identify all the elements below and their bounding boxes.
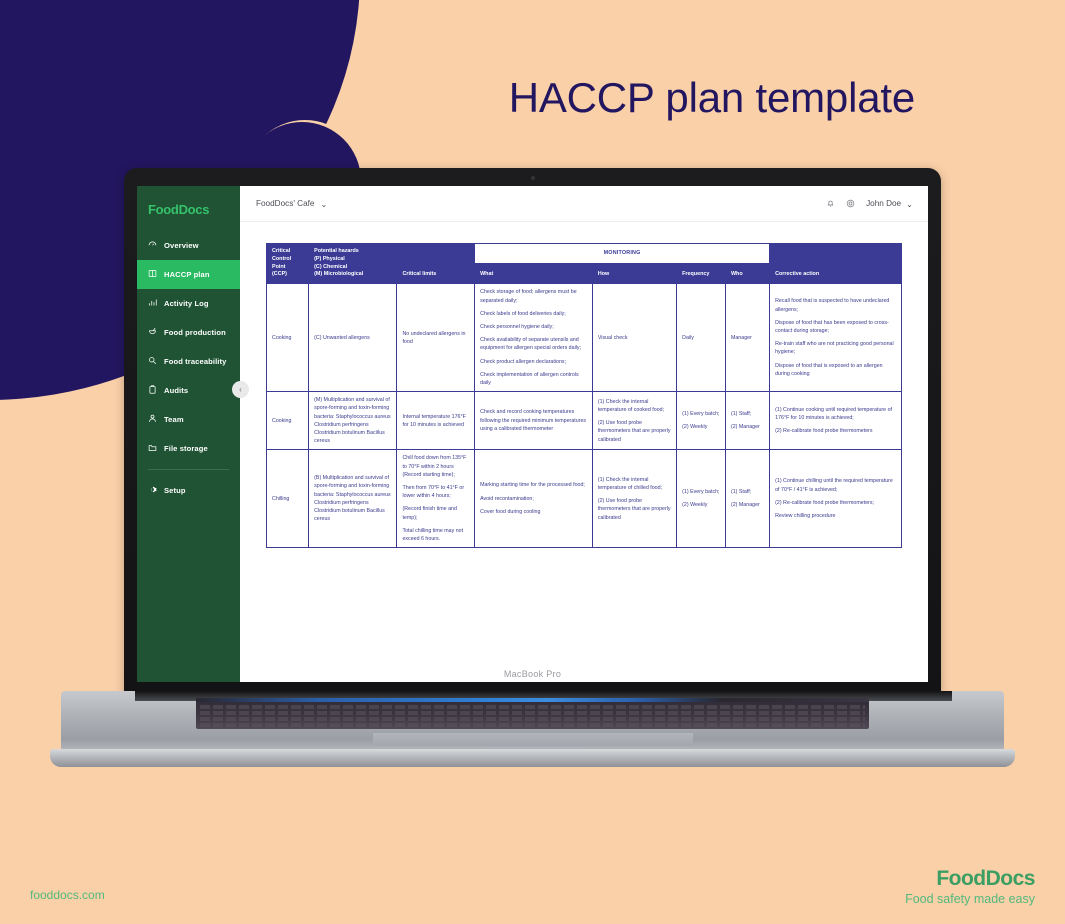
cell-corrective-action: Recall food that is suspected to have un… — [770, 284, 902, 392]
table-body: Cooking (C) Unwanted allergens No undecl… — [267, 284, 902, 548]
bell-icon[interactable] — [826, 199, 835, 208]
cell-who: Manager — [725, 284, 769, 392]
cell-hazards: (B) Multiplication and survival of spore… — [309, 450, 397, 548]
keyboard-row — [200, 711, 865, 715]
col-header-critical-limits: Critical limits — [397, 244, 475, 284]
sidebar-item-food-production[interactable]: Food production — [137, 318, 240, 347]
folder-icon — [148, 443, 157, 454]
cell-ccp: Cooking — [267, 392, 309, 450]
cell-ccp: Chilling — [267, 450, 309, 548]
search-icon — [148, 356, 157, 367]
book-icon — [148, 269, 157, 280]
table-row: Cooking (M) Multiplication and survival … — [267, 392, 902, 450]
table-row: Cooking (C) Unwanted allergens No undecl… — [267, 284, 902, 392]
org-switcher[interactable]: FoodDocs' Cafe ⌄ — [256, 199, 327, 209]
sidebar-item-audits[interactable]: Audits — [137, 376, 240, 405]
cell-frequency: Daily — [677, 284, 726, 392]
sidebar-item-food-traceability[interactable]: Food traceability — [137, 347, 240, 376]
app-sidebar: FoodDocs Overview HACCP plan Activity Lo… — [137, 186, 240, 682]
sidebar-item-setup[interactable]: Setup — [137, 476, 240, 505]
cell-corrective-action: (1) Continue chilling until the required… — [770, 450, 902, 548]
sidebar-item-label: File storage — [164, 444, 208, 453]
col-header-what: What — [475, 264, 593, 284]
col-header-monitoring-group: MONITORING — [475, 244, 770, 264]
sidebar-item-label: HACCP plan — [164, 270, 210, 279]
laptop-keyboard — [196, 698, 869, 729]
laptop-trackpad — [373, 733, 693, 746]
footer-brand: FoodDocs Food safety made easy — [905, 867, 1035, 906]
cell-critical-limits: Internal temperature 176°F for 10 minute… — [397, 392, 475, 450]
cell-who: (1) Staff; (2) Manager — [725, 450, 769, 548]
sidebar-item-label: Activity Log — [164, 299, 209, 308]
sidebar-item-team[interactable]: Team — [137, 405, 240, 434]
app-topbar: FoodDocs' Cafe ⌄ John Doe ⌄ — [240, 186, 928, 222]
sidebar-item-haccp-plan[interactable]: HACCP plan — [137, 260, 240, 289]
cell-frequency: (1) Every batch; (2) Weekly — [677, 392, 726, 450]
table-header-group-row: Critical Control Point (CCP) Potential h… — [267, 244, 902, 264]
cell-what: Check storage of food; allergens must be… — [475, 284, 593, 392]
cell-ccp: Cooking — [267, 284, 309, 392]
col-header-hazards: Potential hazards (P) Physical (C) Chemi… — [309, 244, 397, 284]
table-head: Critical Control Point (CCP) Potential h… — [267, 244, 902, 284]
fooddocs-footer-logo: FoodDocs — [905, 867, 1035, 890]
org-name: FoodDocs' Cafe — [256, 199, 314, 208]
sidebar-item-label: Audits — [164, 386, 188, 395]
cell-how: (1) Check the internal temperature of ch… — [592, 450, 676, 548]
footer-tagline: Food safety made easy — [905, 892, 1035, 906]
app-screen: FoodDocs Overview HACCP plan Activity Lo… — [137, 186, 928, 682]
cell-how: Visual check — [592, 284, 676, 392]
laptop-front-edge — [50, 749, 1015, 767]
help-circle-icon[interactable] — [846, 199, 855, 208]
macbook-model-label: MacBook Pro — [50, 669, 1015, 679]
sidebar-item-activity-log[interactable]: Activity Log — [137, 289, 240, 318]
table-row: Chilling (B) Multiplication and survival… — [267, 450, 902, 548]
user-menu[interactable]: John Doe ⌄ — [866, 199, 913, 209]
haccp-plan-table: Critical Control Point (CCP) Potential h… — [266, 243, 902, 548]
sidebar-item-label: Food traceability — [164, 357, 226, 366]
col-header-how: How — [592, 264, 676, 284]
sidebar-item-label: Setup — [164, 486, 186, 495]
col-header-ccp: Critical Control Point (CCP) — [267, 244, 309, 284]
footer-website-url[interactable]: fooddocs.com — [30, 888, 105, 902]
app-main: FoodDocs' Cafe ⌄ John Doe ⌄ — [240, 186, 928, 682]
sidebar-item-label: Food production — [164, 328, 226, 337]
fooddocs-logo: FoodDocs — [137, 195, 240, 231]
cell-critical-limits: No undeclared allergens in food — [397, 284, 475, 392]
sidebar-divider — [148, 469, 229, 470]
col-header-corrective-action: Corrective action — [770, 244, 902, 284]
page-title: HACCP plan template — [509, 74, 915, 122]
cell-hazards: (C) Unwanted allergens — [309, 284, 397, 392]
chevron-left-icon: ‹ — [239, 385, 242, 394]
keyboard-row — [200, 723, 865, 727]
cell-corrective-action: (1) Continue cooking until required temp… — [770, 392, 902, 450]
laptop-base: MacBook Pro — [50, 691, 1015, 769]
col-header-frequency: Frequency — [677, 264, 726, 284]
col-header-who: Who — [725, 264, 769, 284]
mortar-pestle-icon — [148, 327, 157, 338]
clipboard-icon — [148, 385, 157, 396]
person-icon — [148, 414, 157, 425]
cell-who: (1) Staff; (2) Manager — [725, 392, 769, 450]
cell-what: Check and record cooking temperatures fo… — [475, 392, 593, 450]
speedometer-icon — [148, 240, 157, 251]
haccp-table-container: Critical Control Point (CCP) Potential h… — [240, 222, 928, 682]
webcam-icon — [531, 176, 535, 180]
cell-critical-limits: Chill food down from 135°F to 70°F withi… — [397, 450, 475, 548]
keyboard-row — [200, 717, 865, 721]
user-name: John Doe — [866, 199, 901, 208]
sidebar-item-overview[interactable]: Overview — [137, 231, 240, 260]
laptop-deck — [61, 691, 1004, 753]
gear-icon — [148, 485, 157, 496]
sidebar-collapse-button[interactable]: ‹ — [232, 381, 249, 398]
cell-how: (1) Check the internal temperature of co… — [592, 392, 676, 450]
touch-bar — [196, 698, 869, 702]
sidebar-item-label: Overview — [164, 241, 199, 250]
chevron-down-icon: ⌄ — [320, 199, 327, 209]
cell-hazards: (M) Multiplication and survival of spore… — [309, 392, 397, 450]
laptop-mockup: FoodDocs Overview HACCP plan Activity Lo… — [50, 168, 1015, 798]
sidebar-item-label: Team — [164, 415, 184, 424]
laptop-lid: FoodDocs Overview HACCP plan Activity Lo… — [124, 168, 941, 698]
topbar-actions: John Doe ⌄ — [826, 199, 913, 209]
chevron-down-icon: ⌄ — [906, 199, 913, 209]
keyboard-row — [200, 705, 865, 709]
sidebar-item-file-storage[interactable]: File storage — [137, 434, 240, 463]
cell-frequency: (1) Every batch; (2) Weekly — [677, 450, 726, 548]
cell-what: Marking starting time for the processed … — [475, 450, 593, 548]
bar-chart-icon — [148, 298, 157, 309]
